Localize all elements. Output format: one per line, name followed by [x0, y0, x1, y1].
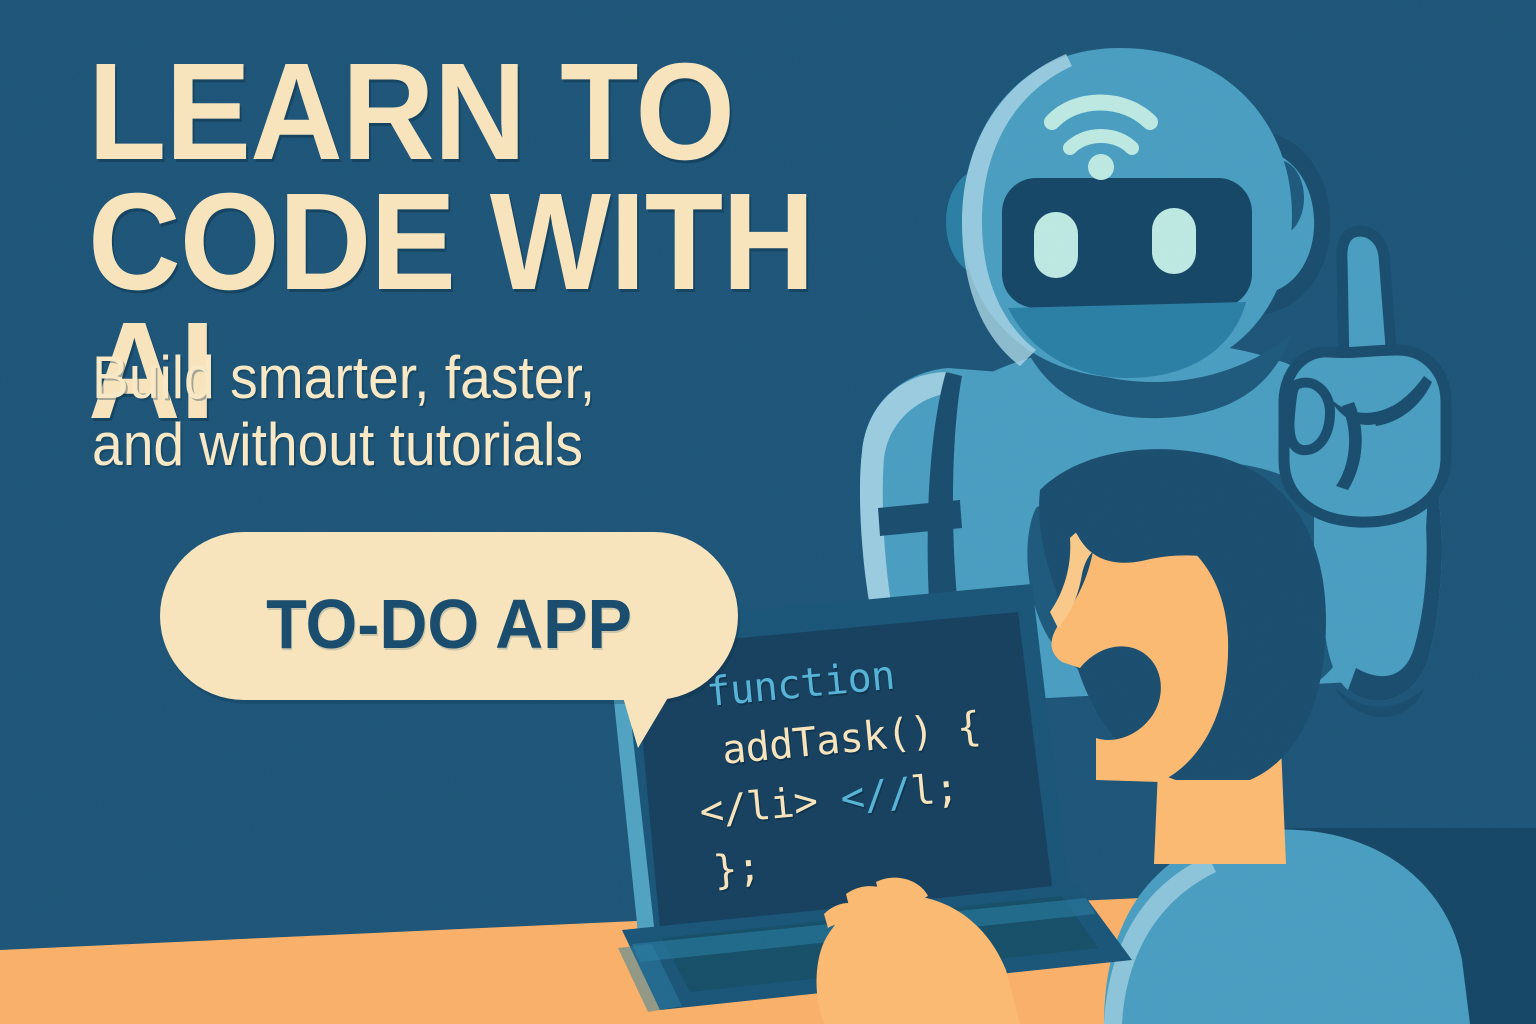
code-line-4: }; [703, 809, 1067, 902]
poster-canvas: LEARN TO CODE WITH AI Build smarter, fas… [0, 0, 1536, 1024]
text-layer: LEARN TO CODE WITH AI Build smarter, fas… [0, 0, 1536, 1024]
subtitle: Build smarter, faster, and without tutor… [92, 344, 791, 478]
speech-bubble-tail [560, 640, 760, 770]
